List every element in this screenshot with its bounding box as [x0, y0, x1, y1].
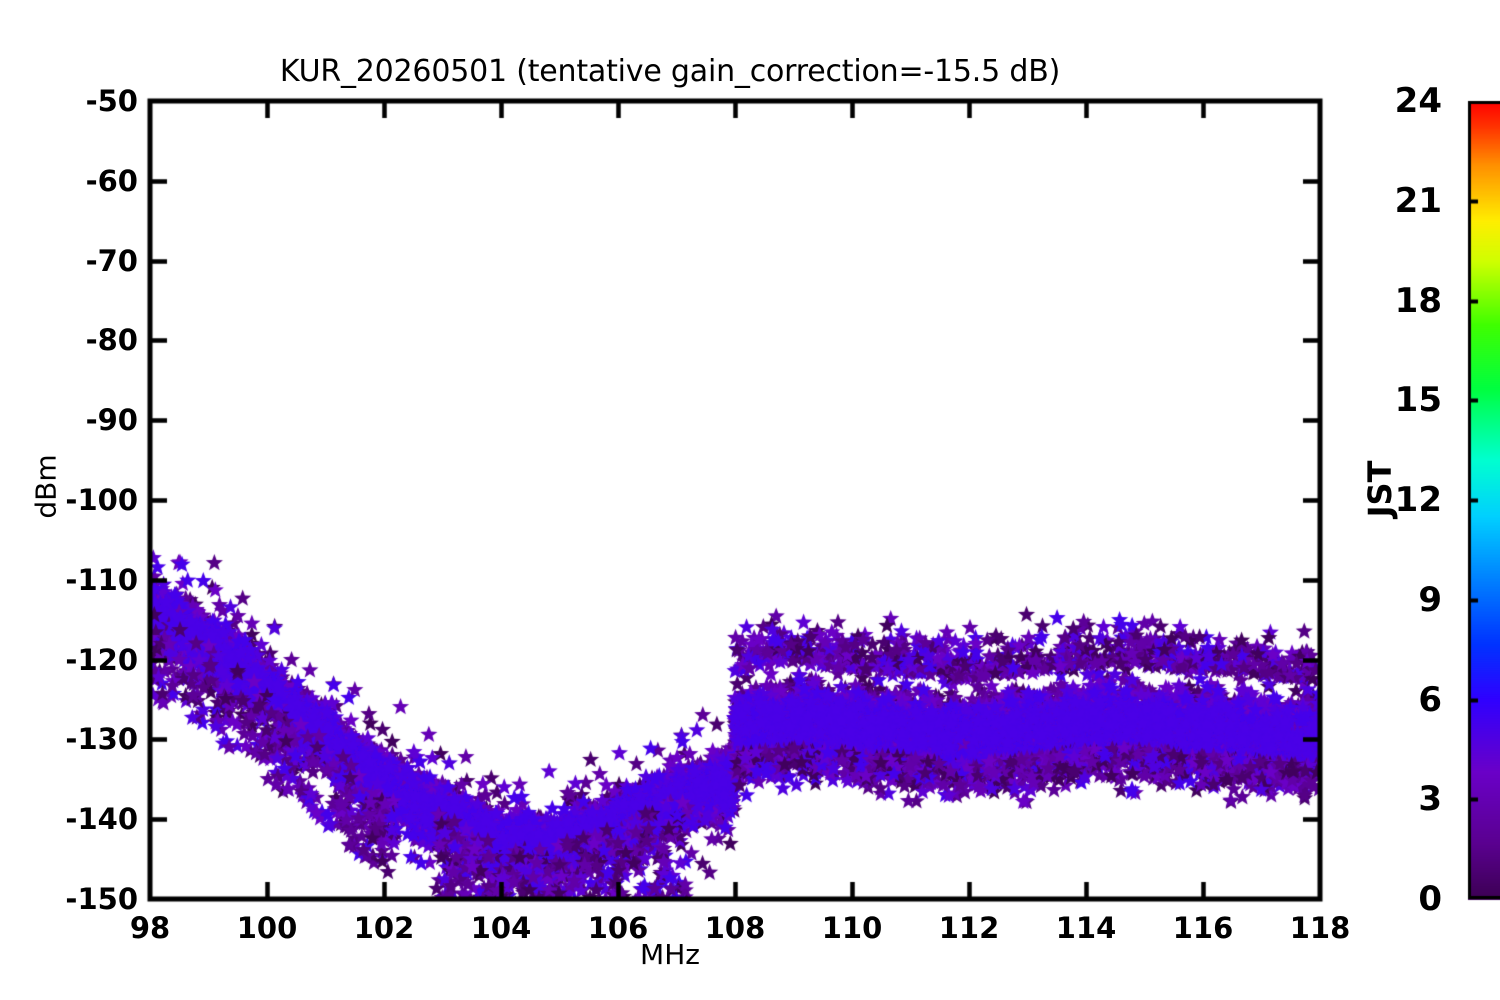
colorbar-tick-label: 15 — [1330, 380, 1442, 420]
y-tick-label: -110 — [0, 563, 138, 597]
y-tick-label: -140 — [0, 802, 138, 836]
colorbar-tick-label: 18 — [1330, 281, 1442, 321]
y-tick-label: -90 — [0, 403, 138, 437]
y-tick-label: -100 — [0, 483, 138, 517]
colorbar-tick-label: 24 — [1330, 81, 1442, 121]
x-tick-label: 110 — [822, 911, 883, 945]
x-tick-label: 104 — [471, 911, 532, 945]
x-tick-label: 116 — [1173, 911, 1234, 945]
y-tick-label: -80 — [0, 323, 138, 357]
x-tick-label: 98 — [130, 911, 170, 945]
y-tick-label: -70 — [0, 244, 138, 278]
colorbar-tick-label: 21 — [1330, 181, 1442, 221]
y-tick-label: -60 — [0, 164, 138, 198]
chart-root: KUR_20260501 (tentative gain_correction=… — [0, 0, 1500, 1000]
x-tick-label: 112 — [939, 911, 1000, 945]
chart-title: KUR_20260501 (tentative gain_correction=… — [0, 54, 1340, 89]
y-tick-label: -120 — [0, 643, 138, 677]
x-tick-label: 100 — [237, 911, 298, 945]
x-axis-title: MHz — [0, 938, 1340, 971]
x-tick-label: 108 — [705, 911, 766, 945]
colorbar-tick-label: 0 — [1330, 879, 1442, 919]
x-tick-label: 106 — [588, 911, 649, 945]
x-tick-label: 114 — [1056, 911, 1117, 945]
y-tick-label: -50 — [0, 84, 138, 118]
spectrum-scatter-canvas — [0, 0, 1500, 1000]
y-tick-label: -130 — [0, 722, 138, 756]
x-tick-label: 102 — [354, 911, 415, 945]
y-tick-label: -150 — [0, 882, 138, 916]
colorbar-tick-label: 12 — [1330, 480, 1442, 520]
colorbar-tick-label: 3 — [1330, 779, 1442, 819]
colorbar-tick-label: 9 — [1330, 580, 1442, 620]
colorbar-tick-label: 6 — [1330, 680, 1442, 720]
